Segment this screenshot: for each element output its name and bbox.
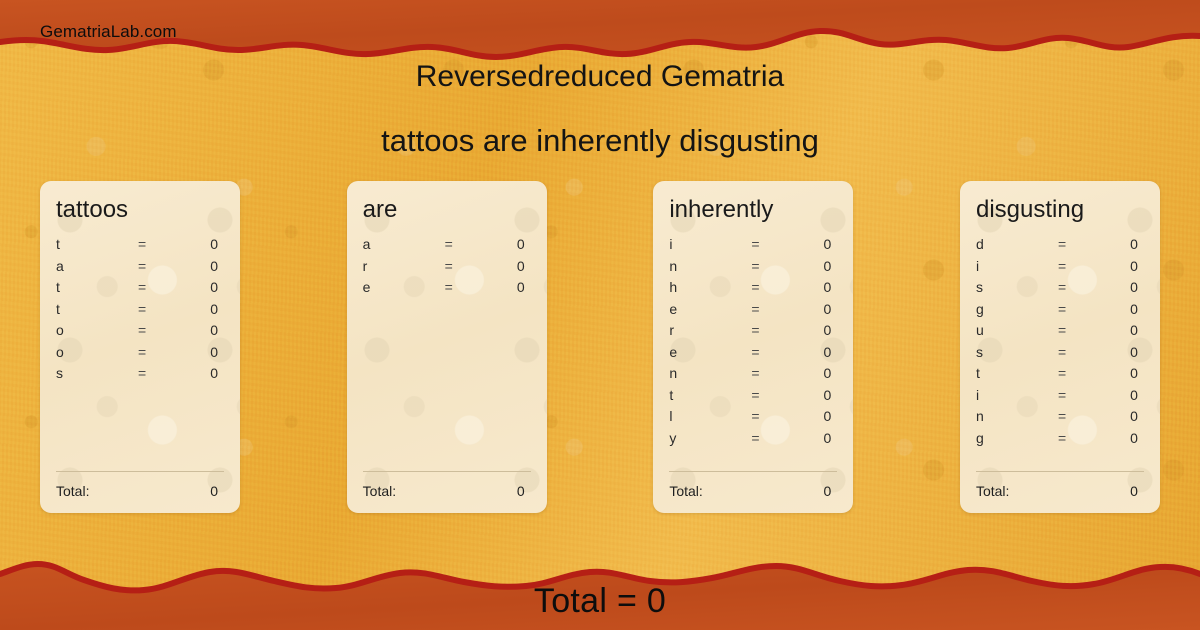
equals-sign: = (445, 258, 487, 274)
equals-sign: = (751, 365, 793, 381)
equals-sign: = (138, 279, 180, 295)
letter-value: 0 (180, 258, 224, 274)
equals-sign: = (1058, 387, 1100, 403)
letter-value: 0 (180, 322, 224, 338)
equals-sign: = (1058, 344, 1100, 360)
equals-sign: = (751, 344, 793, 360)
letter-char: r (669, 322, 751, 338)
word-card: tattoos t = 0 a = 0 t = 0 t = 0 (40, 181, 240, 513)
site-name-label: GematriaLab.com (40, 22, 177, 42)
letter-char: i (669, 236, 751, 252)
phrase-title: tattoos are inherently disgusting (0, 123, 1200, 159)
letter-value: 0 (793, 236, 837, 252)
letter-row: s = 0 (976, 279, 1144, 301)
letter-char: t (976, 365, 1058, 381)
letter-row: n = 0 (976, 408, 1144, 430)
letter-value: 0 (1100, 408, 1144, 424)
equals-sign: = (1058, 258, 1100, 274)
letter-char: t (56, 279, 138, 295)
divider (669, 471, 837, 472)
equals-sign: = (138, 344, 180, 360)
letter-row: u = 0 (976, 322, 1144, 344)
letter-char: e (363, 279, 445, 295)
letter-char: s (976, 279, 1058, 295)
letter-row: d = 0 (976, 236, 1144, 258)
letter-row: i = 0 (976, 387, 1144, 409)
letter-char: i (976, 258, 1058, 274)
letter-rows: i = 0 n = 0 h = 0 e = 0 r = 0 (669, 236, 837, 451)
letter-char: u (976, 322, 1058, 338)
letter-row: a = 0 (363, 236, 531, 258)
word-card-title: disgusting (976, 197, 1144, 222)
word-card-title: tattoos (56, 197, 224, 222)
letter-value: 0 (487, 258, 531, 274)
letter-value: 0 (1100, 430, 1144, 446)
letter-value: 0 (1100, 365, 1144, 381)
equals-sign: = (751, 236, 793, 252)
divider (56, 471, 224, 472)
letter-row: s = 0 (56, 365, 224, 387)
letter-value: 0 (180, 236, 224, 252)
total-value: 0 (517, 483, 531, 499)
letter-row: n = 0 (669, 365, 837, 387)
top-torn-band-shape (0, 0, 1200, 70)
equals-sign: = (138, 365, 180, 381)
letter-value: 0 (1100, 258, 1144, 274)
letter-row: t = 0 (56, 301, 224, 323)
letter-char: d (976, 236, 1058, 252)
letter-char: n (669, 258, 751, 274)
letter-value: 0 (793, 258, 837, 274)
letter-char: h (669, 279, 751, 295)
letter-row: r = 0 (363, 258, 531, 280)
letter-char: a (363, 236, 445, 252)
letter-char: t (56, 236, 138, 252)
letter-row: o = 0 (56, 344, 224, 366)
total-value: 0 (824, 483, 838, 499)
equals-sign: = (751, 387, 793, 403)
total-label: Total: (976, 483, 1130, 499)
equals-sign: = (1058, 301, 1100, 317)
letter-row: e = 0 (669, 301, 837, 323)
word-card-title: are (363, 197, 531, 222)
word-total-row: Total: 0 (669, 483, 837, 499)
equals-sign: = (138, 258, 180, 274)
letter-rows: t = 0 a = 0 t = 0 t = 0 o = 0 (56, 236, 224, 387)
top-torn-band (0, 0, 1200, 70)
divider (976, 471, 1144, 472)
letter-char: g (976, 430, 1058, 446)
letter-row: t = 0 (56, 236, 224, 258)
equals-sign: = (1058, 408, 1100, 424)
letter-row: i = 0 (669, 236, 837, 258)
letter-row: t = 0 (56, 279, 224, 301)
letter-value: 0 (180, 365, 224, 381)
letter-value: 0 (793, 430, 837, 446)
letter-row: n = 0 (669, 258, 837, 280)
letter-value: 0 (1100, 387, 1144, 403)
word-card-footer: Total: 0 (56, 471, 224, 499)
letter-char: e (669, 344, 751, 360)
letter-value: 0 (793, 408, 837, 424)
word-card-footer: Total: 0 (976, 471, 1144, 499)
letter-row: l = 0 (669, 408, 837, 430)
equals-sign: = (138, 322, 180, 338)
equals-sign: = (1058, 322, 1100, 338)
letter-char: s (56, 365, 138, 381)
letter-value: 0 (180, 279, 224, 295)
letter-row: g = 0 (976, 301, 1144, 323)
letter-value: 0 (793, 301, 837, 317)
word-card-footer: Total: 0 (669, 471, 837, 499)
letter-value: 0 (793, 322, 837, 338)
word-total-row: Total: 0 (56, 483, 224, 499)
letter-row: e = 0 (669, 344, 837, 366)
letter-row: h = 0 (669, 279, 837, 301)
letter-value: 0 (1100, 322, 1144, 338)
letter-char: o (56, 344, 138, 360)
letter-row: s = 0 (976, 344, 1144, 366)
equals-sign: = (1058, 236, 1100, 252)
letter-rows: d = 0 i = 0 s = 0 g = 0 u = 0 (976, 236, 1144, 451)
word-total-row: Total: 0 (363, 483, 531, 499)
letter-value: 0 (487, 279, 531, 295)
total-value: 0 (210, 483, 224, 499)
letter-char: a (56, 258, 138, 274)
letter-char: y (669, 430, 751, 446)
letter-value: 0 (793, 365, 837, 381)
letter-row: r = 0 (669, 322, 837, 344)
letter-row: e = 0 (363, 279, 531, 301)
equals-sign: = (751, 279, 793, 295)
grand-total-label: Total = 0 (0, 582, 1200, 621)
total-label: Total: (669, 483, 823, 499)
letter-value: 0 (180, 301, 224, 317)
word-cards-row: tattoos t = 0 a = 0 t = 0 t = 0 (40, 181, 1160, 513)
letter-value: 0 (793, 344, 837, 360)
word-card: are a = 0 r = 0 e = 0 Total: 0 (347, 181, 547, 513)
letter-value: 0 (487, 236, 531, 252)
total-value: 0 (1130, 483, 1144, 499)
letter-value: 0 (1100, 279, 1144, 295)
letter-char: s (976, 344, 1058, 360)
equals-sign: = (445, 236, 487, 252)
equals-sign: = (751, 408, 793, 424)
letter-row: o = 0 (56, 322, 224, 344)
letter-row: t = 0 (976, 365, 1144, 387)
letter-row: t = 0 (669, 387, 837, 409)
letter-char: n (669, 365, 751, 381)
letter-char: o (56, 322, 138, 338)
equals-sign: = (751, 322, 793, 338)
equals-sign: = (751, 258, 793, 274)
letter-value: 0 (1100, 344, 1144, 360)
letter-char: n (976, 408, 1058, 424)
letter-char: t (669, 387, 751, 403)
letter-row: a = 0 (56, 258, 224, 280)
letter-char: t (56, 301, 138, 317)
letter-value: 0 (1100, 301, 1144, 317)
equals-sign: = (445, 279, 487, 295)
equals-sign: = (1058, 279, 1100, 295)
equals-sign: = (751, 301, 793, 317)
equals-sign: = (1058, 430, 1100, 446)
letter-char: r (363, 258, 445, 274)
letter-char: l (669, 408, 751, 424)
letter-char: g (976, 301, 1058, 317)
word-card: inherently i = 0 n = 0 h = 0 e = 0 (653, 181, 853, 513)
divider (363, 471, 531, 472)
letter-rows: a = 0 r = 0 e = 0 (363, 236, 531, 301)
equals-sign: = (138, 301, 180, 317)
letter-char: e (669, 301, 751, 317)
letter-value: 0 (1100, 236, 1144, 252)
letter-char: i (976, 387, 1058, 403)
letter-row: y = 0 (669, 430, 837, 452)
letter-value: 0 (180, 344, 224, 360)
word-card: disgusting d = 0 i = 0 s = 0 g = 0 (960, 181, 1160, 513)
total-label: Total: (56, 483, 210, 499)
equals-sign: = (1058, 365, 1100, 381)
word-card-title: inherently (669, 197, 837, 222)
letter-value: 0 (793, 279, 837, 295)
equals-sign: = (751, 430, 793, 446)
letter-row: i = 0 (976, 258, 1144, 280)
letter-value: 0 (793, 387, 837, 403)
total-label: Total: (363, 483, 517, 499)
word-card-footer: Total: 0 (363, 471, 531, 499)
equals-sign: = (138, 236, 180, 252)
letter-row: g = 0 (976, 430, 1144, 452)
word-total-row: Total: 0 (976, 483, 1144, 499)
